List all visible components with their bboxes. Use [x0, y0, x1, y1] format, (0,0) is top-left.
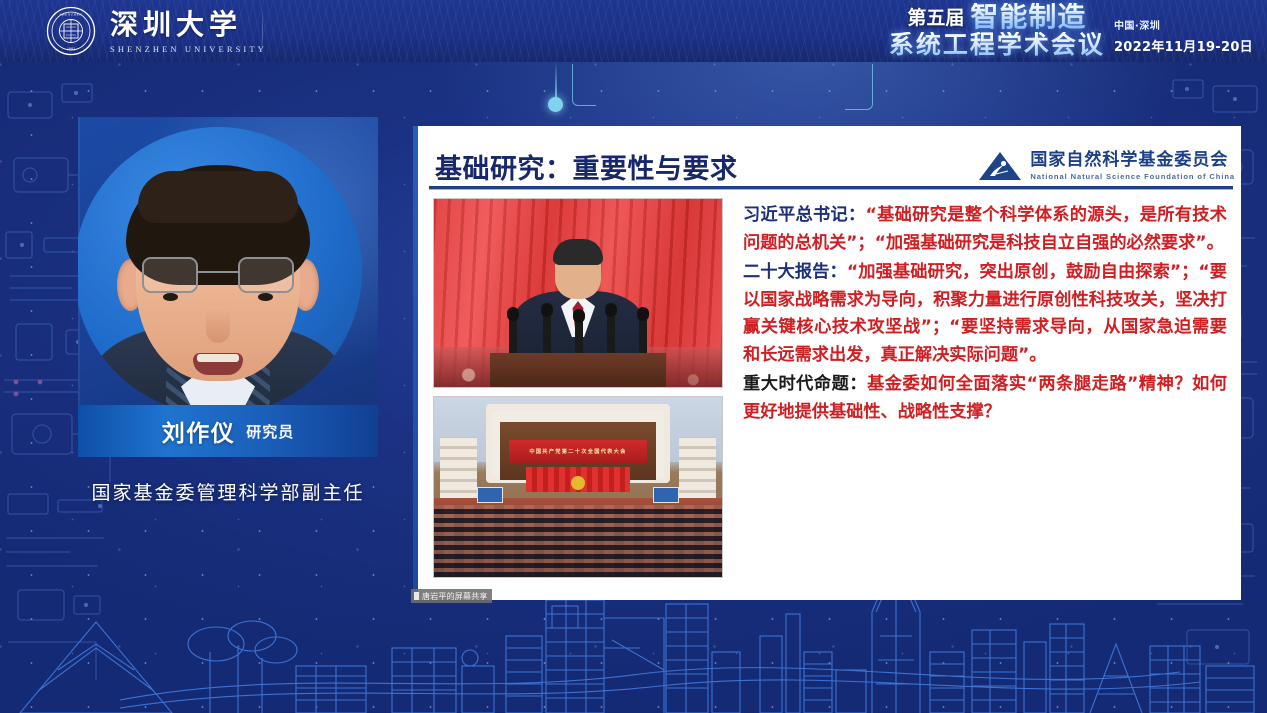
quote-block-xi: 习近平总书记：“基础研究是整个科学体系的源头，是所有技术问题的总机关”；“加强基… [743, 202, 1227, 258]
conference-date: 2022年11月19-20日 [1114, 36, 1253, 55]
university-name-cn: 深圳大学 [110, 11, 267, 39]
conference-brand: 第五届 智能制造 系统工程学术会议 中国·深圳 2022年11月19-20日 [889, 3, 1253, 57]
speaker-video-feed[interactable] [78, 117, 378, 417]
podium-speech-photo [433, 198, 723, 388]
nsfc-logo: 国家自然科学基金委员会 National Natural Science Fou… [978, 150, 1235, 182]
quote-block-congress: 二十大报告：“加强基础研究，突出原创，鼓励自由探索”；“要以国家战略需求为导向，… [743, 259, 1227, 370]
speaker-role: 研究员 [246, 421, 294, 442]
glasses-lens-left [142, 257, 198, 293]
quote-label-xi: 习近平总书记： [743, 205, 866, 225]
svg-text:SHENZHEN: SHENZHEN [60, 13, 83, 17]
conference-title-row-1: 第五届 智能制造 [907, 3, 1086, 31]
slide-body-text: 习近平总书记：“基础研究是整个科学体系的源头，是所有技术问题的总机关”；“加强基… [743, 202, 1227, 428]
hall-screen-left [477, 487, 503, 503]
conference-ordinal: 第五届 [907, 9, 964, 31]
quote-label-congress: 二十大报告： [743, 262, 847, 282]
university-seal-icon: 1983 SHENZHEN [46, 6, 96, 56]
speaker-glasses-icon [136, 257, 300, 297]
speaker-portrait [78, 127, 362, 415]
conference-theme: 智能制造 [970, 3, 1086, 31]
screenshot-root: 1983 SHENZHEN 深圳大学 SHENZHEN UNIVERSITY 第… [0, 0, 1267, 713]
shared-slide[interactable]: 基础研究：重要性与要求 国家自然科学基金委员会 National Natural… [413, 126, 1241, 600]
nsfc-name-cn: 国家自然科学基金委员会 [1030, 152, 1235, 169]
hall-screen-right [653, 487, 679, 503]
quote-label-proposition: 重大时代命题： [743, 374, 867, 394]
speaker-name: 刘作仪 [162, 414, 236, 448]
university-name-en: SHENZHEN UNIVERSITY [110, 45, 267, 54]
conference-meta: 中国·深圳 2022年11月19-20日 [1114, 3, 1253, 55]
decor-node-dot [548, 97, 563, 112]
nsfc-name-en: National Natural Science Foundation of C… [1030, 173, 1235, 181]
great-hall-assembly-photo: 中国共产党第二十次全国代表大会 [433, 396, 723, 578]
screen-share-icon [414, 592, 419, 600]
photo-podium [490, 353, 666, 387]
screen-share-badge: 唐岩平的屏幕共享 [411, 589, 492, 603]
header-divider [262, 8, 263, 53]
decor-trace-right [845, 64, 873, 110]
decor-node-line [555, 62, 557, 98]
microphone-cluster-icon [503, 307, 653, 359]
conference-location: 中国·深圳 [1114, 17, 1253, 32]
slide-title-rule [429, 186, 1233, 189]
university-brand: 1983 SHENZHEN 深圳大学 SHENZHEN UNIVERSITY [46, 6, 267, 56]
congress-banner: 中国共产党第二十次全国代表大会 [509, 440, 647, 463]
screen-share-label: 唐岩平的屏幕共享 [422, 591, 488, 602]
nsfc-wordmark: 国家自然科学基金委员会 National Natural Science Fou… [1030, 152, 1235, 181]
slide-left-accent-bar [413, 126, 418, 600]
party-emblem-icon [571, 476, 585, 490]
glasses-bridge [198, 271, 238, 273]
page-header: 1983 SHENZHEN 深圳大学 SHENZHEN UNIVERSITY 第… [0, 0, 1267, 62]
slide-title: 基础研究：重要性与要求 [435, 147, 738, 186]
speaker-name-bar: 刘作仪 研究员 [78, 405, 378, 457]
congress-banner-text: 中国共产党第二十次全国代表大会 [529, 448, 626, 455]
great-hall-delegates [434, 505, 722, 577]
speaker-nose [206, 309, 230, 343]
decor-trace-left [572, 64, 596, 106]
conference-subtitle: 系统工程学术会议 [889, 32, 1105, 57]
svg-text:1983: 1983 [67, 47, 75, 52]
slide-photo-column: 中国共产党第二十次全国代表大会 [433, 198, 723, 578]
speaker-teeth [197, 354, 239, 362]
university-wordmark: 深圳大学 SHENZHEN UNIVERSITY [110, 9, 267, 54]
speaker-mouth [193, 353, 243, 375]
photo-speaker-hair [553, 239, 603, 265]
nsfc-triangle-logo-icon [978, 150, 1022, 182]
quote-block-proposition: 重大时代命题：基金委如何全面落实“两条腿走路”精神？如何更好地提供基础性、战略性… [743, 371, 1227, 427]
speaker-affiliation: 国家基金委管理科学部副主任 [78, 478, 378, 505]
conference-title: 第五届 智能制造 系统工程学术会议 [889, 3, 1105, 57]
glasses-lens-right [238, 257, 294, 293]
